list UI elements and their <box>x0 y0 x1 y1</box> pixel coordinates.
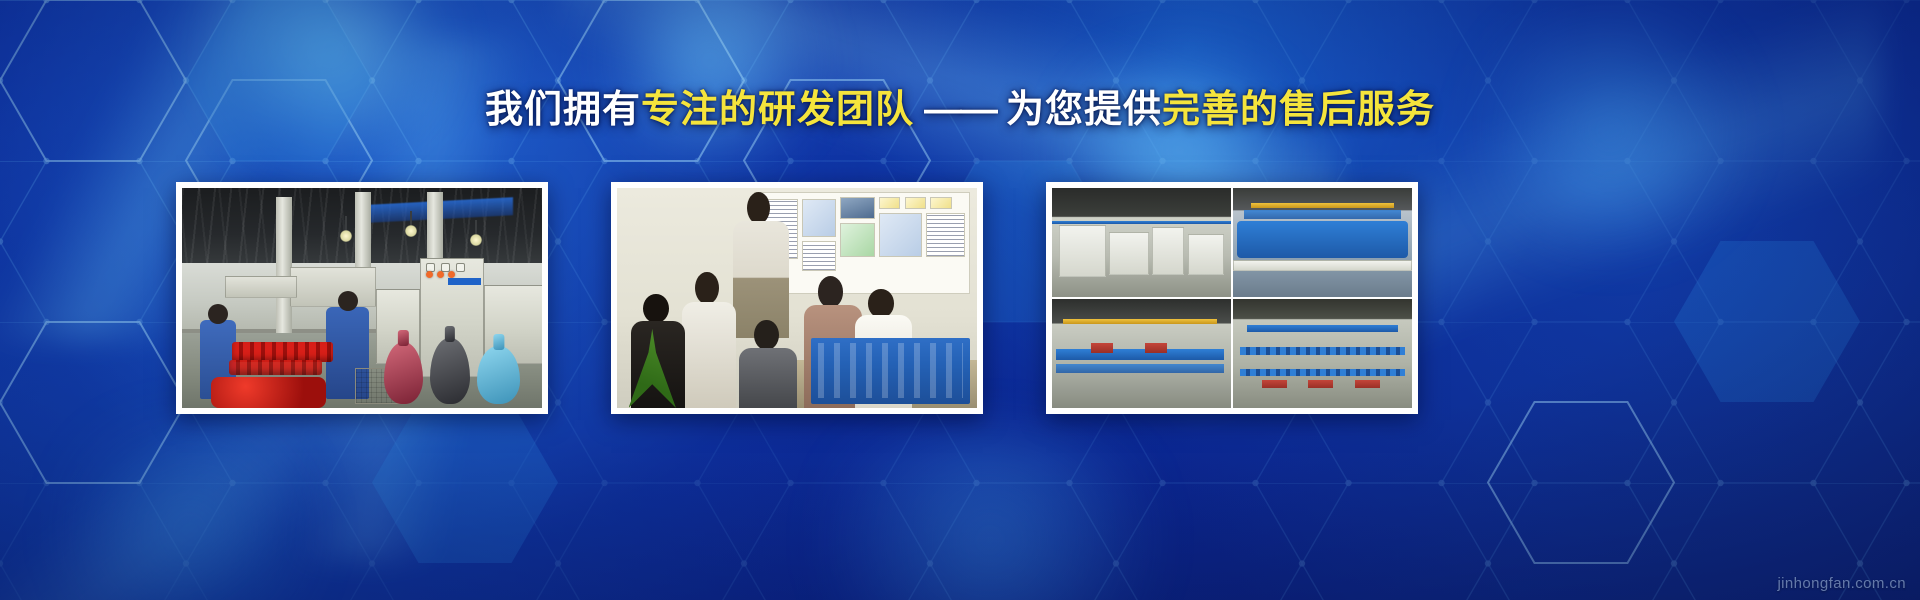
headline-dash: —— <box>914 89 1006 131</box>
photo-3-quadrant-top-left <box>1052 188 1231 297</box>
person-figure <box>739 320 797 408</box>
watermark-text: jinhongfan.com.cn <box>1777 575 1906 592</box>
product-vase <box>477 346 520 403</box>
photo-3-image <box>1052 188 1412 408</box>
person-figure <box>732 192 790 337</box>
equipment-overlay <box>811 338 969 404</box>
photo-2-image <box>617 188 977 408</box>
photo-1-image <box>182 188 542 408</box>
photo-3-quadrant-top-right <box>1233 188 1412 297</box>
photo-card-1[interactable] <box>176 182 548 414</box>
headline-highlight-2: 完善的售后服务 <box>1162 89 1435 131</box>
photo-3-quadrant-bottom-left <box>1052 299 1231 408</box>
photo-3-quadrant-bottom-right <box>1233 299 1412 408</box>
headline-segment-3: 为您提供 <box>1006 89 1162 131</box>
headline-highlight-1: 专注的研发团队 <box>641 89 914 131</box>
page-title: 我们拥有专注的研发团队——为您提供完善的售后服务 <box>0 86 1920 134</box>
photo-gallery <box>0 182 1920 414</box>
promo-banner: 我们拥有专注的研发团队——为您提供完善的售后服务 <box>0 0 1920 600</box>
photo-card-2[interactable] <box>611 182 983 414</box>
headline-segment-1: 我们拥有 <box>485 89 641 131</box>
photo-card-3[interactable] <box>1046 182 1418 414</box>
plant-decoration <box>621 329 700 408</box>
